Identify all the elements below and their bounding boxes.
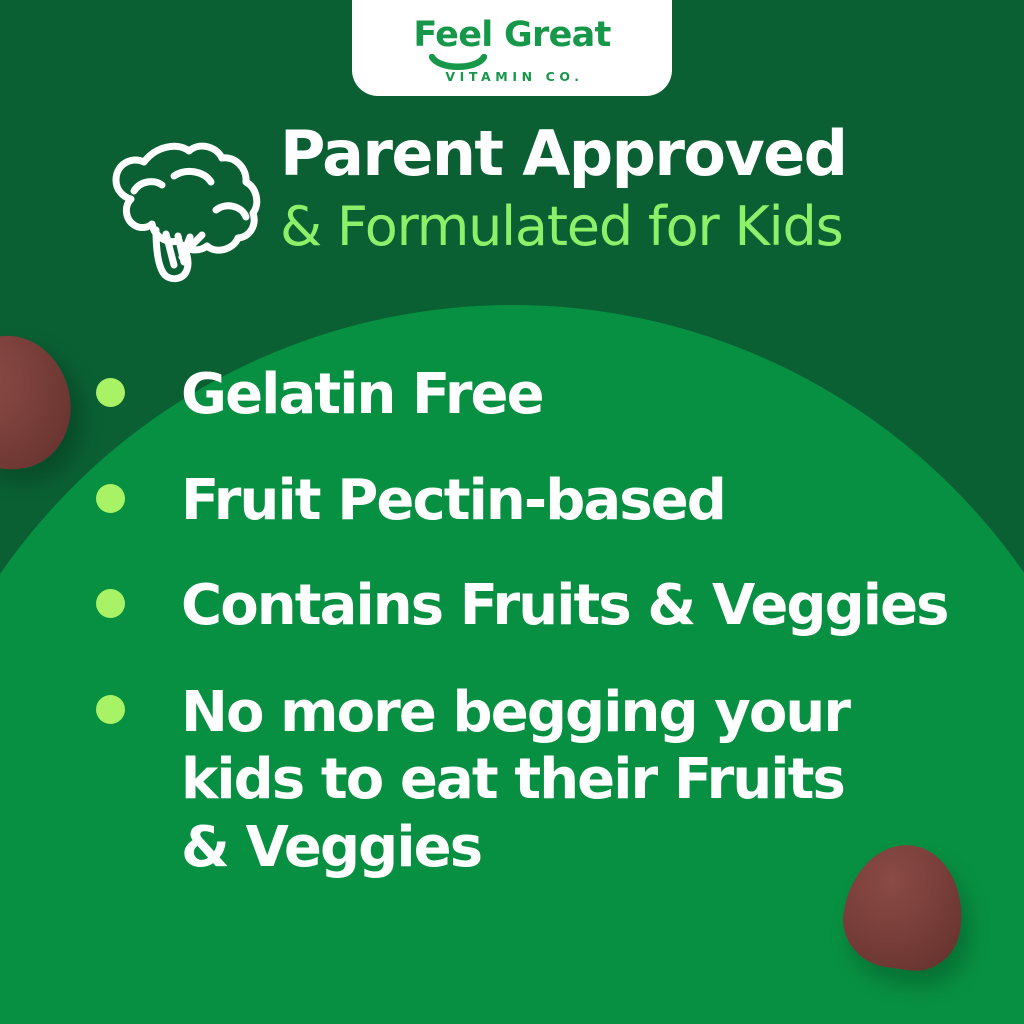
benefit-text: No more begging your kids to eat their F… — [181, 679, 849, 882]
benefit-line: Fruit Pectin-based — [181, 468, 725, 534]
list-item: Fruit Pectin-based — [96, 468, 996, 534]
benefit-line: Gelatin Free — [181, 362, 543, 428]
benefit-line: No more begging your — [181, 679, 849, 747]
header-text-group: Parent Approved & Formulated for Kids — [280, 118, 846, 257]
brand-logo-card: Feel Great VITAMIN CO. — [352, 0, 672, 96]
benefit-text: Fruit Pectin-based — [181, 468, 725, 534]
subheadline: & Formulated for Kids — [280, 197, 846, 256]
gummy-left-decoration — [0, 326, 81, 479]
benefit-line: kids to eat their Fruits — [181, 746, 849, 814]
headline: Parent Approved — [280, 122, 846, 185]
promo-graphic: Feel Great VITAMIN CO. — [0, 0, 1024, 1024]
benefits-list: Gelatin Free Fruit Pectin-based Contains… — [96, 362, 996, 922]
bullet-dot-icon — [96, 378, 125, 407]
brand-tagline: VITAMIN CO. — [440, 69, 583, 84]
list-item: No more begging your kids to eat their F… — [96, 679, 996, 882]
bullet-dot-icon — [96, 589, 125, 618]
header-block: Parent Approved & Formulated for Kids — [0, 118, 1024, 284]
list-item: Gelatin Free — [96, 362, 996, 428]
list-item: Contains Fruits & Veggies — [96, 573, 996, 639]
broccoli-icon — [104, 124, 262, 284]
benefit-text: Gelatin Free — [181, 362, 543, 428]
benefit-line: & Veggies — [181, 814, 849, 882]
bullet-dot-icon — [96, 695, 125, 724]
brand-wordmark: Feel Great — [413, 18, 610, 53]
benefit-text: Contains Fruits & Veggies — [181, 573, 948, 639]
bullet-dot-icon — [96, 484, 125, 513]
benefit-line: Contains Fruits & Veggies — [181, 573, 948, 639]
